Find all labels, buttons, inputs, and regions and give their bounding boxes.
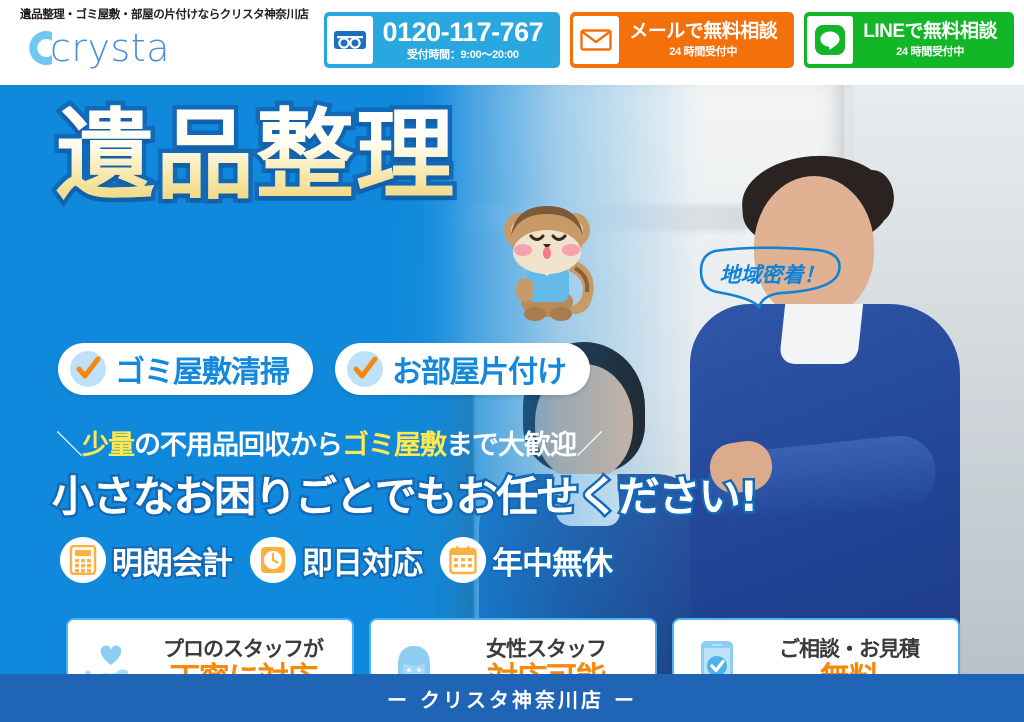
subline-part1: 少量 — [82, 430, 134, 461]
mail-sub: 24 時間受付中 — [629, 43, 777, 59]
local-badge-text: 地域密着！ — [697, 245, 847, 303]
service-pill-label: お部屋片付け — [392, 347, 566, 391]
benefit-card-text: 女性スタッフ 対応可能 — [447, 638, 645, 674]
subline-part3: 不用品回収 — [160, 430, 290, 461]
subline-part7: 大歓迎 — [498, 430, 576, 461]
hero-headline: 小さなお困りごとでもお任せください! — [52, 463, 757, 524]
feature-item-nenjuumukyuu: 年中無休 — [440, 537, 612, 583]
hero-subline: ＼少量の不用品回収からゴミ屋敷まで大歓迎／ — [56, 423, 602, 462]
feature-label: 明朗会計 — [112, 538, 232, 583]
hero-content: 遺品整理 遺品整理 — [0, 85, 1024, 674]
feature-label: 即日対応 — [302, 538, 422, 583]
check-icon — [347, 351, 383, 387]
logo[interactable]: crysta — [20, 26, 220, 70]
phone-number: 0120-117-767 — [383, 18, 544, 46]
calculator-icon — [60, 537, 106, 583]
line-title: LINEで無料相談 — [863, 21, 997, 43]
phone-hours: 受付時間：9:00〜20:00 — [383, 46, 544, 62]
footer-branch-name: ー クリスタ神奈川店 ー — [387, 684, 637, 713]
line-sub: 24 時間受付中 — [863, 43, 997, 59]
service-pill-label: ゴミ屋敷清掃 — [115, 347, 289, 391]
mail-title: メールで無料相談 — [629, 21, 777, 43]
mail-button[interactable]: メールで無料相談 24 時間受付中 — [570, 12, 794, 68]
site-header: 遺品整理・ゴミ屋敷・部屋の片付けならクリスタ神奈川店 crysta — [0, 0, 1024, 85]
subline-part6: まで — [446, 430, 498, 461]
subline-part2: の — [134, 430, 160, 461]
slash-left: ＼ — [56, 430, 82, 461]
benefit-card-bottom: 丁寧に対応 — [144, 662, 342, 674]
page-root: 遺品整理・ゴミ屋敷・部屋の片付けならクリスタ神奈川店 crysta — [0, 0, 1024, 722]
feature-label: 年中無休 — [492, 538, 612, 583]
smartphone-check-icon — [684, 639, 750, 674]
header-contact-buttons: 0120-117-767 受付時間：9:00〜20:00 メールで無料相談 24… — [324, 12, 1014, 68]
check-icon — [70, 351, 106, 387]
benefit-card-row: プロのスタッフが 丁寧に対応 — [66, 618, 960, 674]
benefit-card-top: 女性スタッフ — [486, 637, 606, 661]
footer-bar: ー クリスタ神奈川店 ー — [0, 674, 1024, 722]
benefit-card-text: ご相談・お見積 無料 — [750, 638, 948, 674]
slash-right: ／ — [576, 430, 602, 461]
benefit-card-text: プロのスタッフが 丁寧に対応 — [144, 638, 342, 674]
heart-in-hand-icon — [78, 643, 144, 674]
service-pill-row: ゴミ屋敷清掃 お部屋片付け — [58, 343, 590, 395]
chipmunk-mascot — [495, 190, 600, 322]
clock-icon — [250, 537, 296, 583]
benefit-card[interactable]: 女性スタッフ 対応可能 — [369, 618, 657, 674]
calendar-icon — [440, 537, 486, 583]
brand-block[interactable]: 遺品整理・ゴミ屋敷・部屋の片付けならクリスタ神奈川店 crysta — [20, 6, 309, 70]
hero-section: 遺品整理 遺品整理 — [0, 85, 1024, 674]
benefit-card-top: プロのスタッフが — [163, 637, 323, 661]
feature-row: 明朗会計 即日対応 — [60, 537, 612, 583]
benefit-card[interactable]: ご相談・お見積 無料 — [672, 618, 960, 674]
female-staff-icon — [381, 642, 447, 674]
subline-part5: ゴミ屋敷 — [342, 430, 446, 461]
logo-wordmark: crysta — [50, 26, 170, 70]
service-pill[interactable]: ゴミ屋敷清掃 — [58, 343, 313, 395]
line-icon — [807, 16, 853, 64]
feature-item-sokujitaiou: 即日対応 — [250, 537, 422, 583]
page-title: 遺品整理 — [56, 107, 456, 205]
benefit-card[interactable]: プロのスタッフが 丁寧に対応 — [66, 618, 354, 674]
freedial-icon — [327, 16, 373, 64]
benefit-card-bottom: 無料 — [750, 662, 948, 674]
header-tagline: 遺品整理・ゴミ屋敷・部屋の片付けならクリスタ神奈川店 — [20, 6, 309, 22]
benefit-card-top: ご相談・お見積 — [779, 637, 919, 661]
line-button[interactable]: LINEで無料相談 24 時間受付中 — [804, 12, 1014, 68]
benefit-card-bottom: 対応可能 — [447, 662, 645, 674]
feature-item-meiroukaikei: 明朗会計 — [60, 537, 232, 583]
service-pill[interactable]: お部屋片付け — [335, 343, 590, 395]
phone-button[interactable]: 0120-117-767 受付時間：9:00〜20:00 — [324, 12, 561, 68]
subline-part4: から — [290, 430, 342, 461]
local-badge-bubble: 地域密着！ — [697, 245, 847, 309]
envelope-icon — [573, 16, 619, 64]
